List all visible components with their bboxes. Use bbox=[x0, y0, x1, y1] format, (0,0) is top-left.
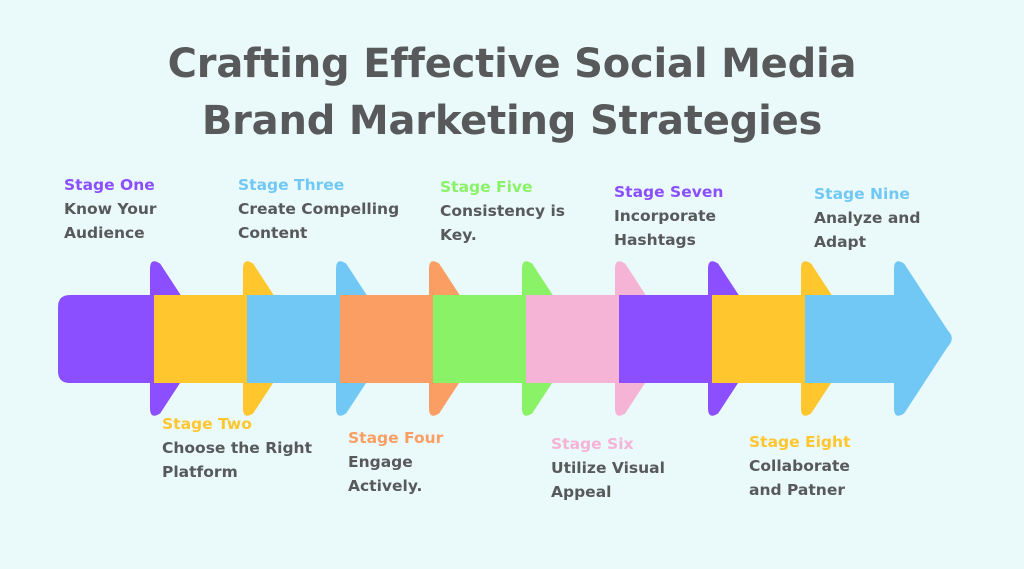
stage-description: Utilize Visual Appeal bbox=[551, 456, 681, 504]
stage-label: Stage Nine bbox=[814, 182, 944, 206]
stage-label: Stage Eight bbox=[749, 430, 879, 454]
stage-caption: Stage OneKnow Your Audience bbox=[64, 173, 194, 245]
stage-description: Engage Actively. bbox=[348, 450, 468, 498]
stage-description: Choose the Right Platform bbox=[162, 436, 322, 484]
stage-description: Collaborate and Patner bbox=[749, 454, 879, 502]
stage-label: Stage Six bbox=[551, 432, 681, 456]
stage-description: Know Your Audience bbox=[64, 197, 194, 245]
stage-caption: Stage FiveConsistency is Key. bbox=[440, 175, 570, 247]
arrow-chain-svg bbox=[0, 250, 1024, 430]
stage-caption: Stage SevenIncorporate Hashtags bbox=[614, 180, 744, 252]
stage-caption: Stage EightCollaborate and Patner bbox=[749, 430, 879, 502]
stage-label: Stage Two bbox=[162, 412, 322, 436]
stage-caption: Stage ThreeCreate Compelling Content bbox=[238, 173, 408, 245]
stage-caption: Stage NineAnalyze and Adapt bbox=[814, 182, 944, 254]
stage-description: Consistency is Key. bbox=[440, 199, 570, 247]
stage-description: Create Compelling Content bbox=[238, 197, 408, 245]
stage-caption: Stage FourEngage Actively. bbox=[348, 426, 468, 498]
process-arrow-chain bbox=[0, 250, 1024, 430]
stage-label: Stage Four bbox=[348, 426, 468, 450]
stage-description: Incorporate Hashtags bbox=[614, 204, 744, 252]
process-arrow bbox=[805, 261, 952, 415]
stage-caption: Stage SixUtilize Visual Appeal bbox=[551, 432, 681, 504]
stage-description: Analyze and Adapt bbox=[814, 206, 944, 254]
stage-label: Stage One bbox=[64, 173, 194, 197]
stage-label: Stage Five bbox=[440, 175, 570, 199]
page-title: Crafting Effective Social Media Brand Ma… bbox=[112, 36, 912, 150]
infographic-canvas: Crafting Effective Social Media Brand Ma… bbox=[0, 0, 1024, 569]
stage-caption: Stage TwoChoose the Right Platform bbox=[162, 412, 322, 484]
stage-label: Stage Seven bbox=[614, 180, 744, 204]
stage-label: Stage Three bbox=[238, 173, 408, 197]
